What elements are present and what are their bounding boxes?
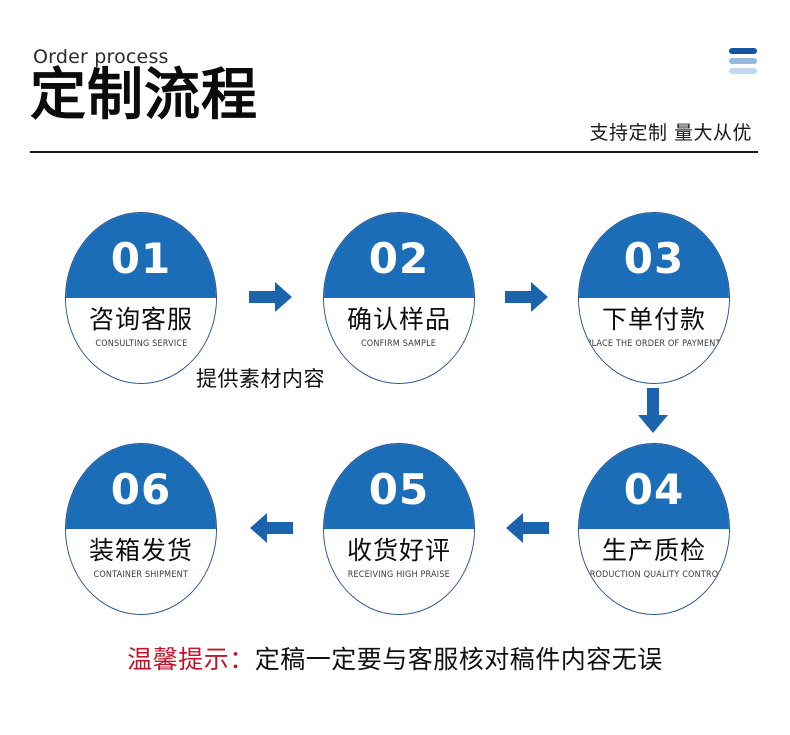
arrow-right-icon-step1-to-step2 <box>249 280 293 314</box>
step-03-label-cn: 下单付款 <box>602 306 706 334</box>
step-02-label-en: CONFIRM SAMPLE <box>361 339 436 349</box>
step-06-number: 06 <box>111 469 171 511</box>
hamburger-bar-middle <box>729 58 757 64</box>
step-01-label-cn: 咨询客服 <box>89 306 193 334</box>
step-03-number-area: 03 <box>579 213 729 298</box>
step-01-number-area: 01 <box>66 213 216 298</box>
step-04-label-en: PRODUCTION QUALITY CONTROL <box>585 570 723 580</box>
step-01-label-en: CONSULTING SERVICE <box>95 339 187 349</box>
process-flow-diagram: 01 咨询客服 CONSULTING SERVICE 02 确认样品 CONFI… <box>0 160 790 660</box>
arrow-down-icon-step3-to-step4 <box>636 388 670 434</box>
footer-note-highlight: 温馨提示： <box>127 645 255 674</box>
footer-note: 温馨提示：定稿一定要与客服核对稿件内容无误 <box>0 640 790 676</box>
step-04-label-cn: 生产质检 <box>602 537 706 565</box>
step-06-label-area: 装箱发货 CONTAINER SHIPMENT <box>66 529 216 614</box>
process-step-02[interactable]: 02 确认样品 CONFIRM SAMPLE <box>323 212 475 384</box>
step-02-label-cn: 确认样品 <box>347 306 451 334</box>
hamburger-bar-bottom <box>729 68 757 74</box>
step-03-label-area: 下单付款 PLACE THE ORDER OF PAYMENT <box>579 298 729 383</box>
step-02-number-area: 02 <box>324 213 474 298</box>
page-header: Order process 定制流程 支持定制 量大从优 <box>0 0 790 160</box>
process-step-06[interactable]: 06 装箱发货 CONTAINER SHIPMENT <box>65 443 217 615</box>
process-step-03[interactable]: 03 下单付款 PLACE THE ORDER OF PAYMENT <box>578 212 730 384</box>
arrow-left-icon-step4-to-step5 <box>505 511 549 545</box>
step-05-label-en: RECEIVING HIGH PRAISE <box>348 570 450 580</box>
header-tagline: 支持定制 量大从优 <box>589 118 752 145</box>
step-01-label-area: 咨询客服 CONSULTING SERVICE <box>66 298 216 383</box>
hamburger-menu-icon[interactable] <box>729 48 757 74</box>
hamburger-bar-top <box>729 48 757 54</box>
page-title: 定制流程 <box>30 68 258 124</box>
step-01-number: 01 <box>111 238 171 280</box>
process-step-01[interactable]: 01 咨询客服 CONSULTING SERVICE <box>65 212 217 384</box>
step-05-number: 05 <box>369 469 429 511</box>
header-divider <box>30 151 758 153</box>
step-06-number-area: 06 <box>66 444 216 529</box>
footer-note-text: 定稿一定要与客服核对稿件内容无误 <box>255 645 663 674</box>
flow-mid-note: 提供素材内容 <box>196 363 325 393</box>
step-04-label-area: 生产质检 PRODUCTION QUALITY CONTROL <box>579 529 729 614</box>
step-06-label-cn: 装箱发货 <box>89 537 193 565</box>
step-02-number: 02 <box>369 238 429 280</box>
arrow-left-icon-step5-to-step6 <box>249 511 293 545</box>
arrow-right-icon-step2-to-step3 <box>505 280 549 314</box>
step-04-number-area: 04 <box>579 444 729 529</box>
step-05-label-cn: 收货好评 <box>347 537 451 565</box>
step-03-label-en: PLACE THE ORDER OF PAYMENT <box>587 339 721 349</box>
step-05-label-area: 收货好评 RECEIVING HIGH PRAISE <box>324 529 474 614</box>
process-step-05[interactable]: 05 收货好评 RECEIVING HIGH PRAISE <box>323 443 475 615</box>
step-06-label-en: CONTAINER SHIPMENT <box>94 570 188 580</box>
step-03-number: 03 <box>624 238 684 280</box>
step-02-label-area: 确认样品 CONFIRM SAMPLE <box>324 298 474 383</box>
step-04-number: 04 <box>624 469 684 511</box>
process-step-04[interactable]: 04 生产质检 PRODUCTION QUALITY CONTROL <box>578 443 730 615</box>
step-05-number-area: 05 <box>324 444 474 529</box>
